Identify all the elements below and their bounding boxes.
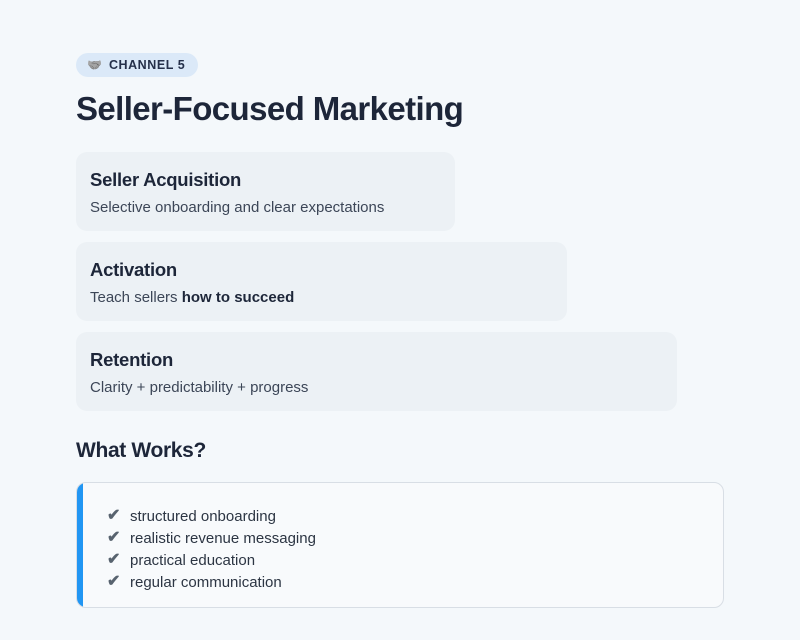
what-works-panel: ✔ structured onboarding ✔ realistic reve… bbox=[76, 482, 724, 608]
channel-badge-label: CHANNEL 5 bbox=[109, 58, 185, 72]
list-item-label: structured onboarding bbox=[130, 507, 276, 526]
section-heading: What Works? bbox=[76, 438, 800, 463]
stage-card-list: Seller Acquisition Selective onboarding … bbox=[76, 152, 800, 411]
stage-card-title: Activation bbox=[90, 259, 545, 281]
list-item: ✔ structured onboarding bbox=[107, 505, 723, 527]
list-item-label: realistic revenue messaging bbox=[130, 529, 316, 548]
check-icon: ✔ bbox=[107, 508, 122, 524]
stage-card-description-text: Teach sellers bbox=[90, 289, 182, 306]
stage-card-description-text: Selective onboarding and clear expectati… bbox=[90, 199, 384, 216]
stage-card: Activation Teach sellers how to succeed bbox=[76, 242, 567, 321]
stage-card: Retention Clarity + predictability + pro… bbox=[76, 332, 677, 411]
accent-bar bbox=[77, 483, 83, 607]
stage-card-description: Selective onboarding and clear expectati… bbox=[90, 198, 433, 217]
stage-card-description-emphasis: how to succeed bbox=[182, 289, 295, 306]
check-icon: ✔ bbox=[107, 530, 122, 546]
check-icon: ✔ bbox=[107, 574, 122, 590]
list-item: ✔ regular communication bbox=[107, 571, 723, 593]
stage-card-description-text: Clarity + predictability + progress bbox=[90, 379, 308, 396]
list-item-label: regular communication bbox=[130, 573, 282, 592]
stage-card-description: Teach sellers how to succeed bbox=[90, 288, 545, 307]
slide-root: 🤝 CHANNEL 5 Seller-Focused Marketing Sel… bbox=[0, 0, 800, 640]
list-item-label: practical education bbox=[130, 551, 255, 570]
stage-card-title: Seller Acquisition bbox=[90, 169, 433, 191]
stage-card-description: Clarity + predictability + progress bbox=[90, 378, 655, 397]
list-item: ✔ realistic revenue messaging bbox=[107, 527, 723, 549]
check-icon: ✔ bbox=[107, 552, 122, 568]
stage-card: Seller Acquisition Selective onboarding … bbox=[76, 152, 455, 231]
list-item: ✔ practical education bbox=[107, 549, 723, 571]
what-works-list: ✔ structured onboarding ✔ realistic reve… bbox=[77, 483, 723, 593]
channel-badge: 🤝 CHANNEL 5 bbox=[76, 53, 198, 77]
stage-card-title: Retention bbox=[90, 349, 655, 371]
handshake-icon: 🤝 bbox=[87, 59, 102, 71]
page-title: Seller-Focused Marketing bbox=[76, 90, 800, 128]
